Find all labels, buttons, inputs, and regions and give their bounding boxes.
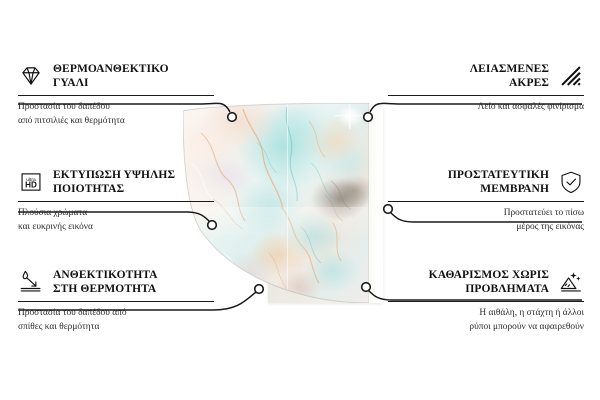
feature-description-line-1: Προστατεύει το πίσω: [388, 207, 584, 221]
feature-description: Λείο και ασφαλές φινίρισμα: [388, 101, 584, 115]
diamond-icon: [18, 63, 44, 89]
feature-title-line-1: ΕΚΤΥΠΩΣΗ ΥΨΗΛΗΣ: [53, 168, 175, 182]
feature-title-line-2: ΠΡΟΒΛΗΜΑΤΑ: [429, 282, 549, 296]
feature-title-line-2: ΣΤΗ ΘΕΡΜΟΤΗΤΑ: [53, 282, 158, 296]
feature-rule: [388, 301, 584, 302]
flame-deflect-icon: [18, 269, 44, 295]
feature-trouble-free-cleaning: ΚΑΘΑΡΙΣΜΟΣ ΧΩΡΙΣ ΠΡΟΒΛΗΜΑΤΑ Η αιθάλη, η …: [388, 268, 584, 334]
feature-heat-durability: ΑΝΘΕΚΤΙΚΟΤΗΤΑ ΣΤΗ ΘΕΡΜΟΤΗΤΑ Προστασία το…: [18, 268, 214, 334]
feature-titles: ΘΕΡΜΟΑΝΘΕΚΤΙΚΟ ΓΥΑΛΙ: [53, 62, 169, 90]
feature-description-line-1: Η αιθάλη, η στάχτη ή άλλοι: [388, 307, 584, 321]
feature-high-quality-print: ultra HD ΕΚΤΥΠΩΣΗ ΥΨΗΛΗΣ ΠΟΙΟΤΗΤΑΣ Πλούσ…: [18, 168, 214, 234]
feature-description-line-1: Πλούσια χρώματα: [18, 207, 214, 221]
feature-rule: [388, 95, 584, 96]
feature-description-line-1: Προστασία του δαπέδου: [18, 101, 214, 115]
feature-header: ΚΑΘΑΡΙΣΜΟΣ ΧΩΡΙΣ ΠΡΟΒΛΗΜΑΤΑ: [388, 268, 584, 296]
feature-description-line-2: από πιτσιλιές και θερμότητα: [18, 115, 214, 129]
feature-title-line-2: ΑΚΡΕΣ: [470, 76, 549, 90]
feature-titles: ΚΑΘΑΡΙΣΜΟΣ ΧΩΡΙΣ ΠΡΟΒΛΗΜΑΤΑ: [429, 268, 549, 296]
feature-title-line-1: ΚΑΘΑΡΙΣΜΟΣ ΧΩΡΙΣ: [429, 268, 549, 282]
feature-description-line-2: σπίθες και θερμότητα: [18, 321, 214, 335]
feature-title-line-1: ΛΕΙΑΣΜΕΝΕΣ: [470, 62, 549, 76]
feature-smoothed-edges: ΛΕΙΑΣΜΕΝΕΣ ΑΚΡΕΣ Λείο και ασφαλές φινίρι…: [388, 62, 584, 115]
feature-description-line-1: Λείο και ασφαλές φινίρισμα: [388, 101, 584, 115]
infographic-canvas: ΘΕΡΜΟΑΝΘΕΚΤΙΚΟ ΓΥΑΛΙ Προστασία του δαπέδ…: [0, 0, 600, 400]
diagonal-stripes-icon: [558, 63, 584, 89]
feature-title-line-1: ΑΝΘΕΚΤΙΚΟΤΗΤΑ: [53, 268, 158, 282]
feature-description: Προστατεύει το πίσω μέρος της εικόνας: [388, 207, 584, 234]
feature-title-line-1: ΘΕΡΜΟΑΝΘΕΚΤΙΚΟ: [53, 62, 169, 76]
feature-titles: ΕΚΤΥΠΩΣΗ ΥΨΗΛΗΣ ΠΟΙΟΤΗΤΑΣ: [53, 168, 175, 196]
feature-rule: [18, 301, 214, 302]
feature-header: ΠΡΟΣΤΑΤΕΥΤΙΚΗ ΜΕΜΒΡΑΝΗ: [388, 168, 584, 196]
feature-protective-membrane: ΠΡΟΣΤΑΤΕΥΤΙΚΗ ΜΕΜΒΡΑΝΗ Προστατεύει το πί…: [388, 168, 584, 234]
glass-seam: [287, 103, 288, 303]
feature-title-line-1: ΠΡΟΣΤΑΤΕΥΤΙΚΗ: [448, 168, 549, 182]
feature-description-line-1: Προστασία του δαπέδου από: [18, 307, 214, 321]
feature-heat-resistant-glass: ΘΕΡΜΟΑΝΘΕΚΤΙΚΟ ΓΥΑΛΙ Προστασία του δαπέδ…: [18, 62, 214, 128]
sparkle-clean-icon: [558, 269, 584, 295]
feature-titles: ΑΝΘΕΚΤΙΚΟΤΗΤΑ ΣΤΗ ΘΕΡΜΟΤΗΤΑ: [53, 268, 158, 296]
glass-glare-sparkle: [333, 103, 367, 131]
feature-description-line-2: και ευκρινής εικόνα: [18, 221, 214, 235]
feature-description: Προστασία του δαπέδου από πιτσιλιές και …: [18, 101, 214, 128]
feature-header: ΛΕΙΑΣΜΕΝΕΣ ΑΚΡΕΣ: [388, 62, 584, 90]
feature-header: ultra HD ΕΚΤΥΠΩΣΗ ΥΨΗΛΗΣ ΠΟΙΟΤΗΤΑΣ: [18, 168, 214, 196]
feature-rule: [18, 95, 214, 96]
feature-description-line-2: ρύποι μπορούν να αφαιρεθούν: [388, 321, 584, 335]
feature-header: ΑΝΘΕΚΤΙΚΟΤΗΤΑ ΣΤΗ ΘΕΡΜΟΤΗΤΑ: [18, 268, 214, 296]
shield-check-icon: [558, 169, 584, 195]
feature-title-line-2: ΠΟΙΟΤΗΤΑΣ: [53, 182, 175, 196]
feature-rule: [18, 201, 214, 202]
feature-description: Η αιθάλη, η στάχτη ή άλλοι ρύποι μπορούν…: [388, 307, 584, 334]
feature-description: Προστασία του δαπέδου από σπίθες και θερ…: [18, 307, 214, 334]
feature-title-line-2: ΓΥΑΛΙ: [53, 76, 169, 90]
product-illustration: [183, 103, 403, 311]
feature-description-line-2: μέρος της εικόνας: [388, 221, 584, 235]
ultra-hd-icon-label-bottom: HD: [25, 181, 37, 190]
feature-title-line-2: ΜΕΜΒΡΑΝΗ: [448, 182, 549, 196]
feature-rule: [388, 201, 584, 202]
ultra-hd-icon: ultra HD: [18, 169, 44, 195]
feature-header: ΘΕΡΜΟΑΝΘΕΚΤΙΚΟ ΓΥΑΛΙ: [18, 62, 214, 90]
feature-titles: ΠΡΟΣΤΑΤΕΥΤΙΚΗ ΜΕΜΒΡΑΝΗ: [448, 168, 549, 196]
feature-titles: ΛΕΙΑΣΜΕΝΕΣ ΑΚΡΕΣ: [470, 62, 549, 90]
feature-description: Πλούσια χρώματα και ευκρινής εικόνα: [18, 207, 214, 234]
